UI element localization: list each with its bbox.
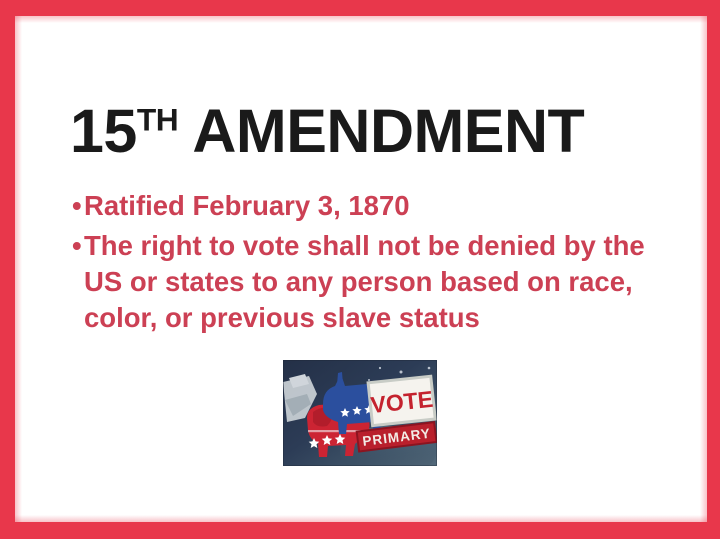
slide-canvas: 15TH AMENDMENT •Ratified February 3, 187… [0, 0, 720, 539]
title-ordinal-suffix: TH [137, 102, 178, 138]
vote-sign: VOTE [366, 375, 436, 428]
slide-body-list: •Ratified February 3, 1870 •The right to… [72, 160, 652, 338]
slide-border-bottom [0, 522, 720, 539]
border-fade-left [15, 16, 22, 522]
slide-border-right [707, 0, 720, 539]
slide-border-left [0, 0, 15, 539]
bullet-marker-icon: • [72, 228, 82, 264]
bullet-item-right-to-vote: •The right to vote shall not be denied b… [72, 228, 652, 335]
slide-image-primary-vote: VOTE PRIMARY [283, 360, 437, 466]
bullet-item-ratified: •Ratified February 3, 1870 [72, 188, 652, 224]
bullet-text: The right to vote shall not be denied by… [84, 230, 645, 333]
slide-border-top [0, 0, 720, 16]
border-fade-right [700, 16, 707, 522]
title-word: AMENDMENT [178, 97, 584, 165]
title-number: 15 [70, 97, 137, 165]
bullet-marker-icon: • [72, 188, 82, 224]
primary-vote-illustration: VOTE PRIMARY [283, 360, 437, 466]
border-fade-bottom [15, 515, 707, 522]
border-fade-top [15, 16, 707, 23]
bullet-text: Ratified February 3, 1870 [84, 190, 410, 221]
slide-title: 15TH AMENDMENT [70, 101, 584, 162]
